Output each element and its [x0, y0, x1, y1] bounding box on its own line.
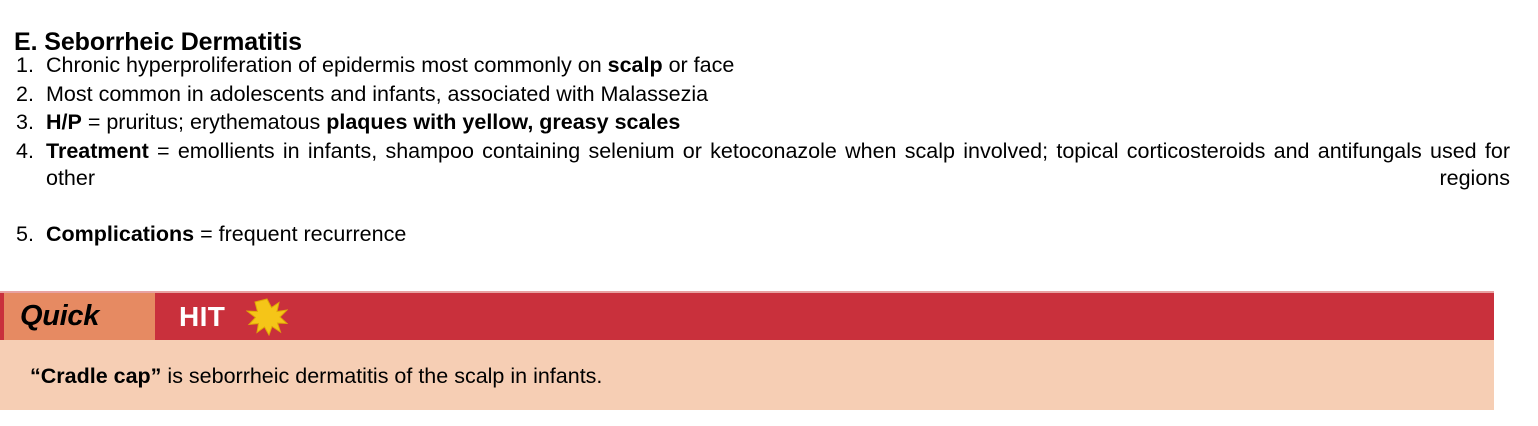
body-text: or face — [663, 53, 735, 77]
list-item-marker: 1. — [16, 52, 42, 80]
list-item: 5.Complications = frequent recurrence — [14, 221, 1510, 249]
textbook-page: E. Seborrheic Dermatitis 1.Chronic hyper… — [0, 0, 1538, 426]
list-item: 2.Most common in adolescents and infants… — [14, 81, 1510, 109]
body-text: = pruritus; erythematous — [82, 110, 326, 134]
list-item-text: Most common in adolescents and infants, … — [46, 81, 1510, 109]
emphasis-text: plaques with yellow, greasy scales — [326, 110, 680, 134]
quick-hit-header-bar: Quick HIT — [0, 291, 1494, 340]
quick-hit-body-text: “Cradle cap” is seborrheic dermatitis of… — [30, 362, 1474, 390]
numbered-list: 1.Chronic hyperproliferation of epidermi… — [14, 52, 1510, 250]
body-text: = frequent recurrence — [194, 222, 406, 246]
list-item-marker: 2. — [16, 81, 42, 109]
body-text: is seborrheic dermatitis of the scalp in… — [161, 364, 602, 388]
quick-hit-hit-label: HIT — [179, 303, 225, 331]
starburst-icon — [245, 297, 289, 337]
list-item-text: Chronic hyperproliferation of epidermis … — [46, 52, 1510, 80]
body-text: = emollients in infants, shampoo contain… — [46, 139, 1510, 191]
list-item-text: Treatment = emollients in infants, shamp… — [46, 138, 1510, 221]
emphasis-text: Complications — [46, 222, 194, 246]
emphasis-text: Treatment — [46, 139, 149, 163]
body-text: Most common in adolescents and infants, … — [46, 82, 708, 106]
list-item: 4.Treatment = emollients in infants, sha… — [14, 138, 1510, 221]
emphasis-text: scalp — [608, 53, 663, 77]
list-item: 3.H/P = pruritus; erythematous plaques w… — [14, 109, 1510, 137]
list-item: 1.Chronic hyperproliferation of epidermi… — [14, 52, 1510, 80]
list-item-marker: 5. — [16, 221, 42, 249]
body-text: Chronic hyperproliferation of epidermis … — [46, 53, 608, 77]
quick-hit-callout: Quick HIT “Cradle cap” is seborrheic der… — [0, 291, 1494, 410]
emphasis-text: “Cradle cap” — [30, 364, 161, 388]
quick-hit-body: “Cradle cap” is seborrheic dermatitis of… — [0, 340, 1494, 410]
list-item-marker: 4. — [16, 138, 42, 166]
list-item-marker: 3. — [16, 109, 42, 137]
list-item-text: Complications = frequent recurrence — [46, 221, 1510, 249]
list-item-text: H/P = pruritus; erythematous plaques wit… — [46, 109, 1510, 137]
emphasis-text: H/P — [46, 110, 82, 134]
quick-hit-quick-label: Quick — [20, 302, 99, 331]
quick-hit-quick-block: Quick — [0, 293, 155, 340]
